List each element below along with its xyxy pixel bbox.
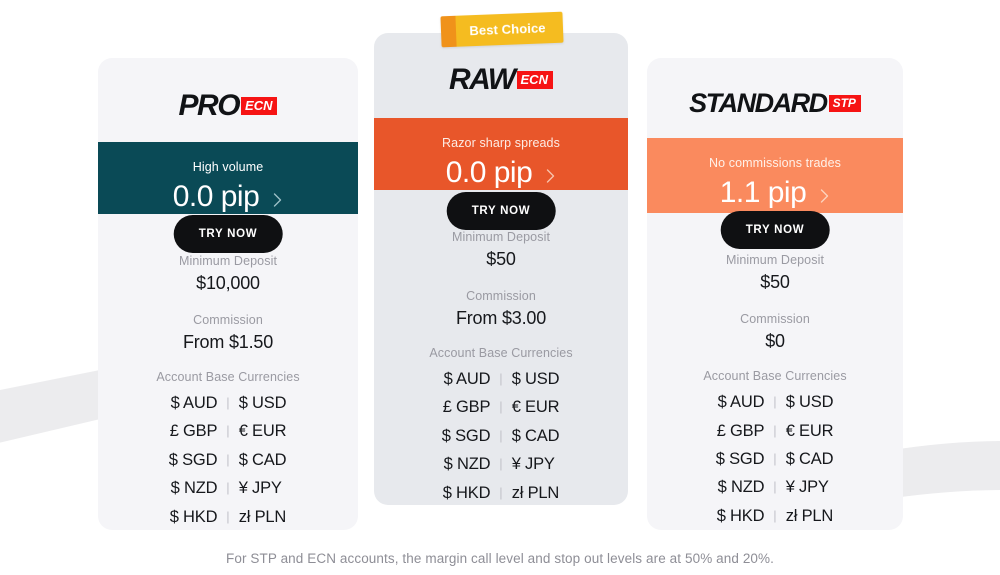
currency-grid: $ AUD | $ USD £ GBP | € EUR $ SGD | $ CA…	[680, 388, 869, 530]
currency-right: $ USD	[239, 389, 323, 417]
currency-row: $ SGD | $ CAD	[680, 445, 869, 473]
currency-left: $ NZD	[406, 450, 490, 478]
min-deposit-label: Minimum Deposit	[179, 254, 277, 268]
currency-left: £ GBP	[406, 393, 490, 421]
currency-row: $ SGD | $ CAD	[406, 422, 595, 450]
band-caption: High volume	[193, 160, 264, 174]
brand-name: STANDARD	[689, 88, 827, 119]
currency-left: $ AUD	[680, 388, 764, 416]
min-deposit-value: $10,000	[196, 273, 260, 294]
currency-row: £ GBP | € EUR	[680, 417, 869, 445]
brand-badge: ECN	[517, 71, 553, 90]
currency-right: $ CAD	[239, 446, 323, 474]
currency-right: ¥ JPY	[512, 450, 596, 478]
band-caption: Razor sharp spreads	[442, 136, 560, 150]
currency-right: € EUR	[239, 417, 323, 445]
pricing-card-pro[interactable]: PRO ECN High volume 0.0 pip TRY NOW Mini…	[98, 58, 358, 530]
currency-grid: $ AUD | $ USD £ GBP | € EUR $ SGD | $ CA…	[133, 389, 322, 530]
currency-left: $ SGD	[406, 422, 490, 450]
currency-left: $ NZD	[133, 474, 217, 502]
currency-right: ¥ JPY	[786, 473, 870, 501]
ribbon-fold	[440, 16, 456, 48]
commission-label: Commission	[193, 313, 263, 327]
currency-left: $ AUD	[406, 365, 490, 393]
commission-label: Commission	[466, 289, 536, 303]
currency-right: $ CAD	[512, 422, 596, 450]
currency-left: $ HKD	[133, 503, 217, 531]
currency-separator: |	[490, 396, 511, 418]
currency-separator: |	[490, 453, 511, 475]
currency-row: $ AUD | $ USD	[680, 388, 869, 416]
currency-left: $ SGD	[133, 446, 217, 474]
currency-left: $ NZD	[680, 473, 764, 501]
spread-value: 0.0 pip	[446, 156, 533, 190]
currencies-label: Account Base Currencies	[429, 346, 572, 360]
currency-right: $ USD	[786, 388, 870, 416]
currency-right: $ USD	[512, 365, 596, 393]
brand-wordmark-pro: PRO ECN	[98, 89, 358, 123]
try-now-button[interactable]: TRY NOW	[174, 215, 283, 253]
spread-row[interactable]: 1.1 pip	[720, 176, 831, 210]
pricing-plans-page: PRO ECN High volume 0.0 pip TRY NOW Mini…	[0, 0, 1000, 575]
currency-row: $ NZD | ¥ JPY	[406, 450, 595, 478]
band-caption: No commissions trades	[709, 156, 841, 170]
min-deposit-value: $50	[486, 249, 515, 270]
currency-separator: |	[217, 477, 238, 499]
currency-grid: $ AUD | $ USD £ GBP | € EUR $ SGD | $ CA…	[406, 365, 595, 505]
currency-row: £ GBP | € EUR	[133, 417, 322, 445]
currency-row: $ HKD | zł PLN	[680, 502, 869, 530]
ribbon-label: Best Choice	[469, 20, 550, 38]
best-choice-ribbon: Best Choice	[440, 12, 563, 48]
currencies-label: Account Base Currencies	[703, 369, 846, 383]
try-now-button[interactable]: TRY NOW	[447, 192, 556, 230]
plan-details-standard: Minimum Deposit $50 Commission $0 Accoun…	[647, 253, 903, 530]
commission-value: From $3.00	[456, 308, 546, 329]
pricing-card-raw[interactable]: RAW ECN Razor sharp spreads 0.0 pip TRY …	[374, 33, 628, 505]
min-deposit-value: $50	[760, 272, 789, 293]
currency-right: zł PLN	[786, 502, 870, 530]
currency-row: $ NZD | ¥ JPY	[133, 474, 322, 502]
currency-right: zł PLN	[512, 479, 596, 506]
currencies-label: Account Base Currencies	[156, 370, 299, 384]
brand-wordmark-standard: STANDARD STP	[647, 88, 903, 119]
commission-value: From $1.50	[183, 332, 273, 353]
brand-badge: STP	[829, 95, 861, 113]
spread-band-raw: Razor sharp spreads 0.0 pip TRY NOW	[374, 118, 628, 190]
currency-row: $ AUD | $ USD	[133, 389, 322, 417]
brand-name: RAW	[449, 63, 515, 97]
currency-separator: |	[764, 448, 785, 470]
currency-row: £ GBP | € EUR	[406, 393, 595, 421]
currency-right: zł PLN	[239, 503, 323, 531]
currency-left: $ SGD	[680, 445, 764, 473]
currency-row: $ SGD | $ CAD	[133, 446, 322, 474]
min-deposit-label: Minimum Deposit	[726, 253, 824, 267]
try-now-button[interactable]: TRY NOW	[721, 211, 830, 249]
currency-separator: |	[217, 449, 238, 471]
commission-label: Commission	[740, 312, 810, 326]
spread-band-standard: No commissions trades 1.1 pip TRY NOW	[647, 138, 903, 213]
brand-wordmark-raw: RAW ECN	[374, 63, 628, 97]
chevron-right-icon[interactable]	[820, 189, 830, 199]
currency-separator: |	[764, 391, 785, 413]
currency-separator: |	[764, 476, 785, 498]
currency-row: $ HKD | zł PLN	[133, 503, 322, 531]
currency-separator: |	[490, 482, 511, 504]
currency-row: $ NZD | ¥ JPY	[680, 473, 869, 501]
currency-separator: |	[217, 420, 238, 442]
spread-value: 1.1 pip	[720, 176, 807, 210]
currency-separator: |	[217, 392, 238, 414]
ribbon-body: Best Choice	[455, 12, 563, 47]
currency-separator: |	[764, 505, 785, 527]
footer-disclaimer: For STP and ECN accounts, the margin cal…	[0, 551, 1000, 566]
currency-right: € EUR	[786, 417, 870, 445]
currency-right: ¥ JPY	[239, 474, 323, 502]
spread-band-pro: High volume 0.0 pip TRY NOW	[98, 142, 358, 214]
currency-row: $ AUD | $ USD	[406, 365, 595, 393]
plan-details-raw: Minimum Deposit $50 Commission From $3.0…	[374, 230, 628, 505]
currency-separator: |	[217, 506, 238, 528]
currency-left: £ GBP	[680, 417, 764, 445]
currency-separator: |	[764, 420, 785, 442]
currency-row: $ HKD | zł PLN	[406, 479, 595, 506]
min-deposit-label: Minimum Deposit	[452, 230, 550, 244]
chevron-right-icon[interactable]	[546, 169, 556, 179]
currency-left: $ HKD	[680, 502, 764, 530]
chevron-right-icon[interactable]	[273, 193, 283, 203]
brand-badge: ECN	[241, 97, 277, 116]
currency-left: £ GBP	[133, 417, 217, 445]
spread-value: 0.0 pip	[173, 180, 260, 214]
currency-separator: |	[490, 425, 511, 447]
currency-right: $ CAD	[786, 445, 870, 473]
spread-row[interactable]: 0.0 pip	[173, 180, 284, 214]
spread-row[interactable]: 0.0 pip	[446, 156, 557, 190]
pricing-card-standard[interactable]: STANDARD STP No commissions trades 1.1 p…	[647, 58, 903, 530]
currency-right: € EUR	[512, 393, 596, 421]
currency-left: $ HKD	[406, 479, 490, 506]
brand-name: PRO	[179, 89, 240, 123]
commission-value: $0	[765, 331, 785, 352]
plan-details-pro: Minimum Deposit $10,000 Commission From …	[98, 254, 358, 530]
currency-separator: |	[490, 368, 511, 390]
currency-left: $ AUD	[133, 389, 217, 417]
